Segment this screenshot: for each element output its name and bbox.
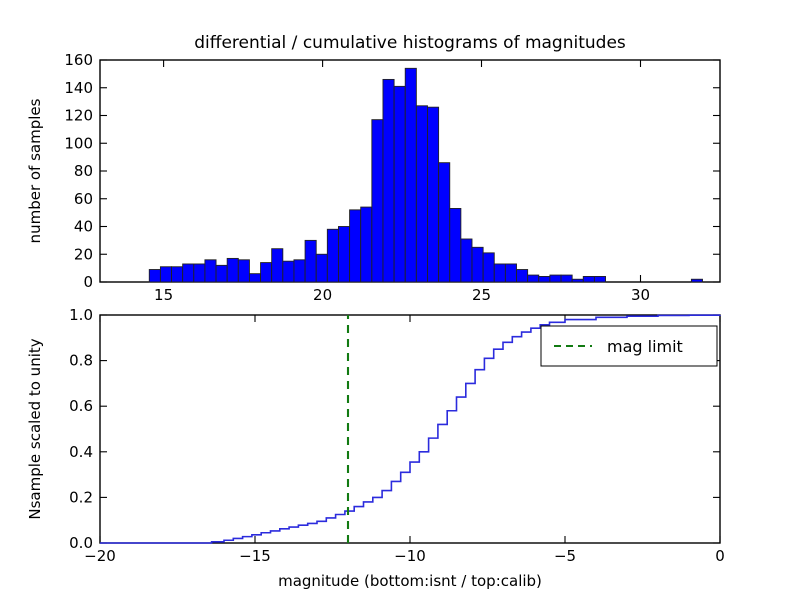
top-xtick-label-20: 20 [313,286,332,304]
top-ytick-label-80: 80 [74,162,93,180]
histogram-bar [494,264,505,282]
histogram-bar [594,276,605,282]
histogram-bar [316,254,327,282]
top-ytick-label-40: 40 [74,218,93,236]
histogram-bar [160,267,171,282]
histogram-bar [550,275,561,282]
bottom-xtick-label-minus20: −20 [84,547,116,565]
histogram-bar [194,264,205,282]
histogram-bar [461,239,472,282]
histogram-bar [483,253,494,282]
bottom-xtick-label-minus15: −15 [239,547,271,565]
histogram-bar [691,279,702,282]
histogram-bar [517,270,528,282]
histogram-bar [205,260,216,282]
bottom-y-axis-title: Nsample scaled to unity [26,338,44,519]
histogram-bar [350,210,361,282]
page-title: differential / cumulative histograms of … [194,33,626,53]
top-ytick-label-0: 0 [83,273,93,291]
top-ytick-label-60: 60 [74,190,93,208]
histogram-bar [216,265,227,282]
legend-entry-label: mag limit [607,337,683,356]
histogram-bar [149,270,160,282]
top-y-axis-title: number of samples [26,98,44,243]
histogram-bar [238,260,249,282]
top-ytick-label-140: 140 [64,79,93,97]
histogram-bar [227,258,238,282]
histogram-bar [183,264,194,282]
figure-canvas: differential / cumulative histograms of … [0,0,800,600]
histogram-bar [361,207,372,282]
histogram-bar [439,163,450,282]
top-xtick-label-15: 15 [154,286,173,304]
histogram-bar [372,120,383,282]
bottom-xtick-label-0: 0 [715,547,725,565]
bottom-xtick-label-minus10: −10 [394,547,426,565]
histogram-bar [383,79,394,282]
histogram-bar [572,279,583,282]
bottom-ytick-label-08: 0.8 [69,352,93,370]
top-ytick-label-120: 120 [64,107,93,125]
top-ytick-label-100: 100 [64,134,93,152]
histogram-bar [249,274,260,282]
histogram-bar [416,106,427,282]
histogram-bar [505,264,516,282]
legend[interactable]: mag limit [541,326,717,366]
histogram-bar [327,229,338,282]
bottom-x-axis-title: magnitude (bottom:isnt / top:calib) [278,572,542,590]
top-ytick-label-160: 160 [64,51,93,69]
bottom-ytick-label-02: 0.2 [69,488,93,506]
histogram-bar [394,86,405,282]
top-ytick-label-20: 20 [74,245,93,263]
histogram-bar [283,261,294,282]
bottom-xtick-label-minus5: −5 [554,547,576,565]
histogram-bar [172,267,183,282]
histogram-bar [427,107,438,282]
histogram-bar [528,275,539,282]
top-xtick-label-25: 25 [472,286,491,304]
bottom-ytick-label-04: 0.4 [69,443,93,461]
histogram-bar [472,247,483,282]
histogram-bar [405,68,416,282]
histogram-bar [294,260,305,282]
histogram-bar [583,276,594,282]
histogram-bar [561,275,572,282]
histogram-bar [450,208,461,282]
histogram-bar [261,263,272,282]
histogram-bar [539,276,550,282]
histogram-bar [272,249,283,282]
bottom-ytick-label-06: 0.6 [69,397,93,415]
histogram-bar [338,227,349,283]
top-xtick-label-30: 30 [631,286,650,304]
bottom-ytick-label-10: 1.0 [69,306,93,324]
histogram-bar [305,240,316,282]
